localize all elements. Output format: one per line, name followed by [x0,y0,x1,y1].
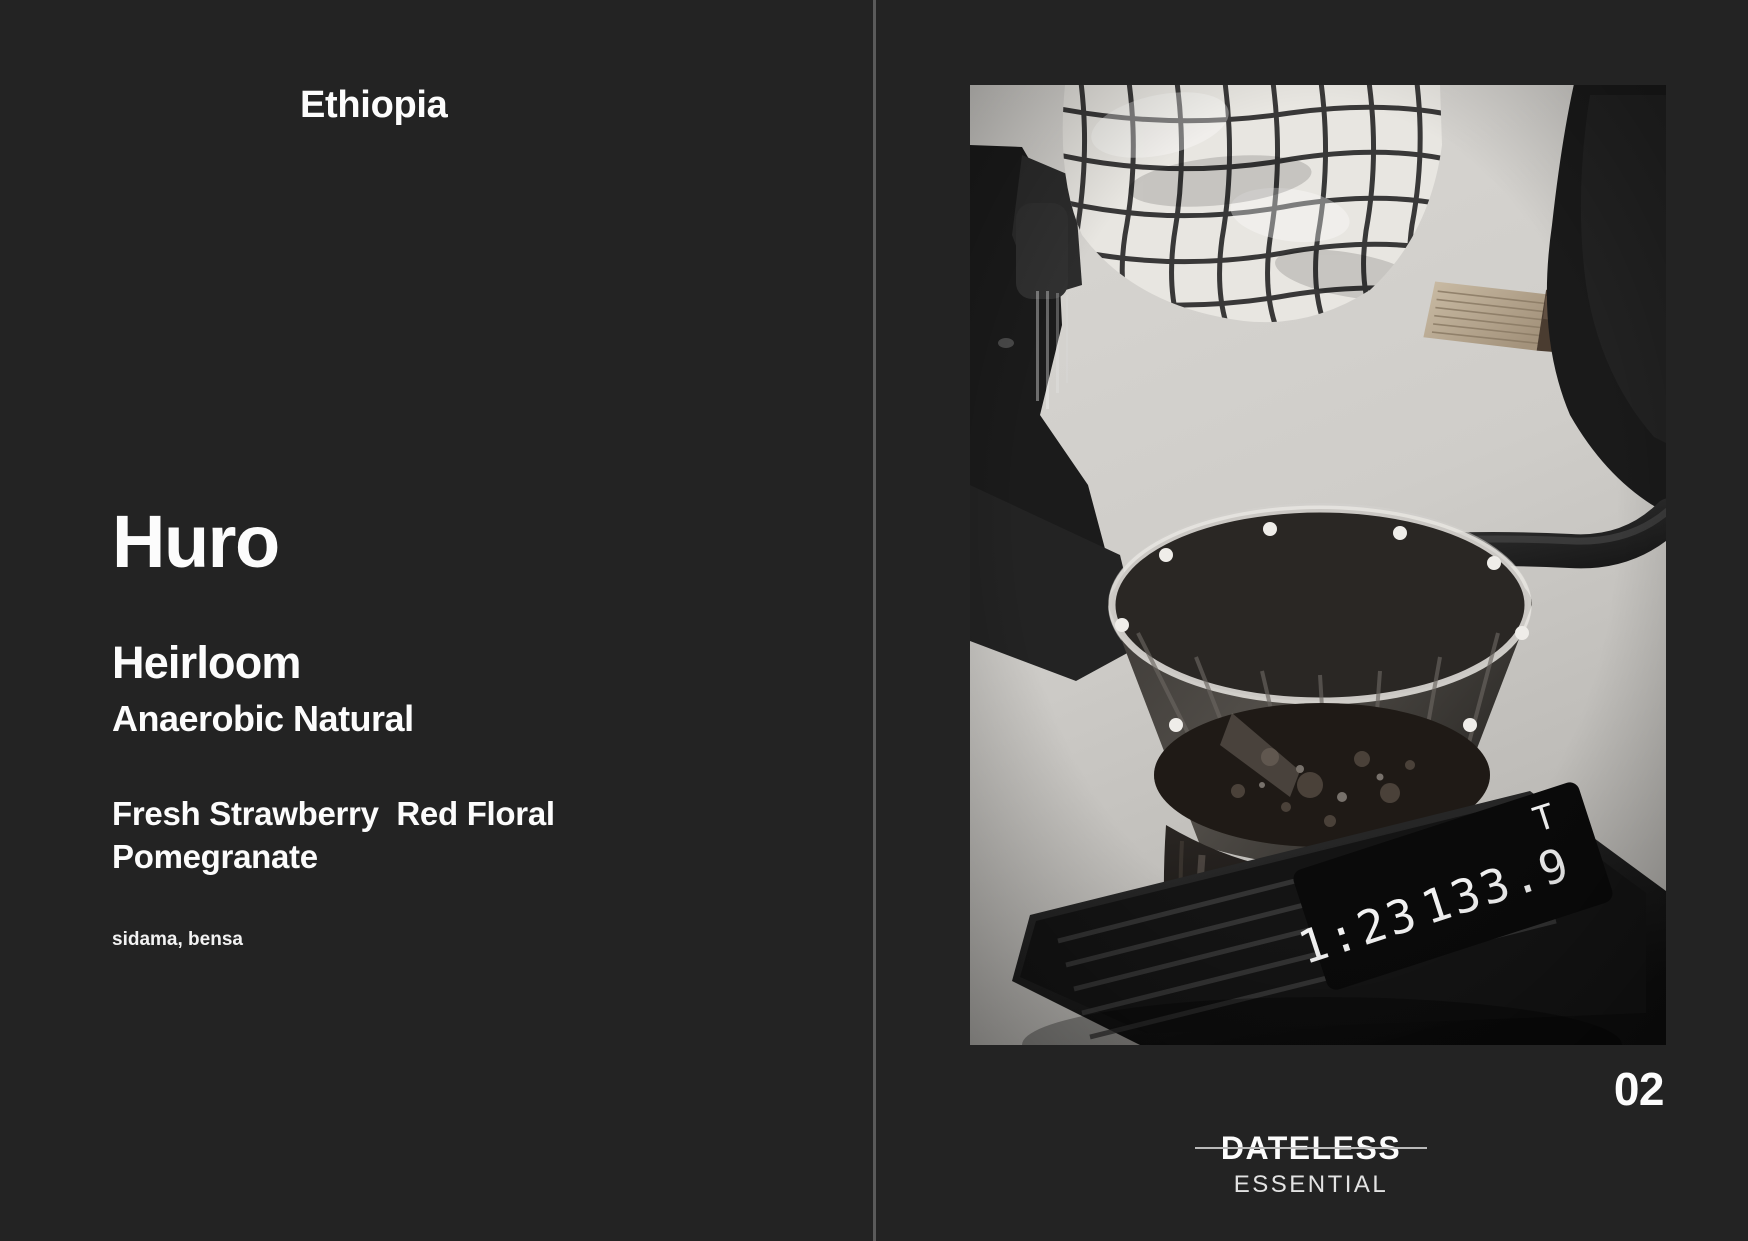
tasting-notes: Fresh Strawberry Red Floral Pomegranate [112,792,672,880]
coffee-process: Anaerobic Natural [112,700,812,738]
country-title: Ethiopia [300,84,448,127]
tasting-notes-line-2: Pomegranate [112,838,318,875]
left-panel: Ethiopia Huro Heirloom Anaerobic Natural… [0,0,874,1241]
page-number: 02 [1614,1062,1664,1116]
brand-strike-line [1195,1147,1427,1149]
coffee-region: sidama, bensa [112,929,812,951]
brewing-photo-illustration: T 133.9 1:23 [970,85,1666,1045]
coffee-info-block: Huro Heirloom Anaerobic Natural Fresh St… [112,506,812,951]
coffee-name: Huro [112,506,812,579]
brand-tagline: ESSENTIAL [1234,1173,1389,1197]
coffee-variety: Heirloom [112,639,812,686]
brand-name-wrap: DATELESS [1203,1132,1419,1164]
tasting-notes-line-1: Fresh Strawberry Red Floral [112,795,555,832]
brewing-photo: T 133.9 1:23 [970,85,1666,1045]
right-panel: T 133.9 1:23 02 DATELESS ESSENTIAL [874,0,1748,1241]
coffee-card: Ethiopia Huro Heirloom Anaerobic Natural… [0,0,1748,1241]
brand-logo: DATELESS ESSENTIAL [874,1132,1748,1197]
